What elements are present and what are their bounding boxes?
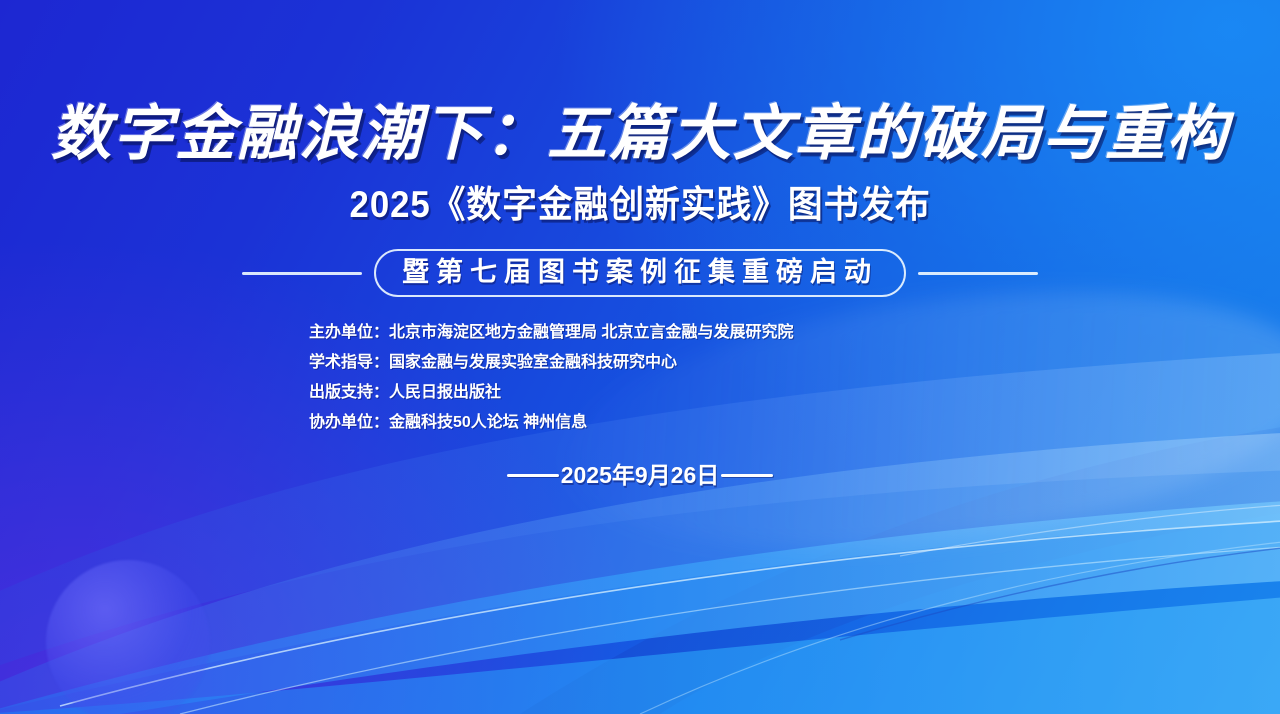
date-rule-right <box>721 474 773 477</box>
credit-line-academic: 学术指导：国家金融与发展实验室金融科技研究中心 <box>309 348 677 378</box>
date-rule-left <box>507 474 559 477</box>
sub-title: 2025《数字金融创新实践》图书发布 <box>349 186 930 223</box>
banner-rule-left <box>242 272 362 275</box>
highlight-banner-text: 暨第七届图书案例征集重磅启动 <box>402 257 878 287</box>
credit-line-publisher: 出版支持：人民日报出版社 <box>309 378 501 408</box>
event-date: 2025年9月26日 <box>559 464 722 487</box>
highlight-banner-pill: 暨第七届图书案例征集重磅启动 <box>374 249 906 297</box>
poster-content: 数字金融浪潮下：五篇大文章的破局与重构 2025《数字金融创新实践》图书发布 暨… <box>0 0 1280 714</box>
main-title: 数字金融浪潮下：五篇大文章的破局与重构 <box>51 104 1229 164</box>
credits-block: 主办单位：北京市海淀区地方金融管理局 北京立言金融与发展研究院 学术指导：国家金… <box>300 318 980 438</box>
credit-line-cohost: 协办单位：金融科技50人论坛 神州信息 <box>309 408 587 438</box>
highlight-banner-row: 暨第七届图书案例征集重磅启动 <box>135 249 1145 297</box>
banner-rule-right <box>918 272 1038 275</box>
date-row: 2025年9月26日 <box>507 464 774 487</box>
credit-line-host: 主办单位：北京市海淀区地方金融管理局 北京立言金融与发展研究院 <box>309 318 793 348</box>
poster-root: 数字金融浪潮下：五篇大文章的破局与重构 2025《数字金融创新实践》图书发布 暨… <box>0 0 1280 714</box>
